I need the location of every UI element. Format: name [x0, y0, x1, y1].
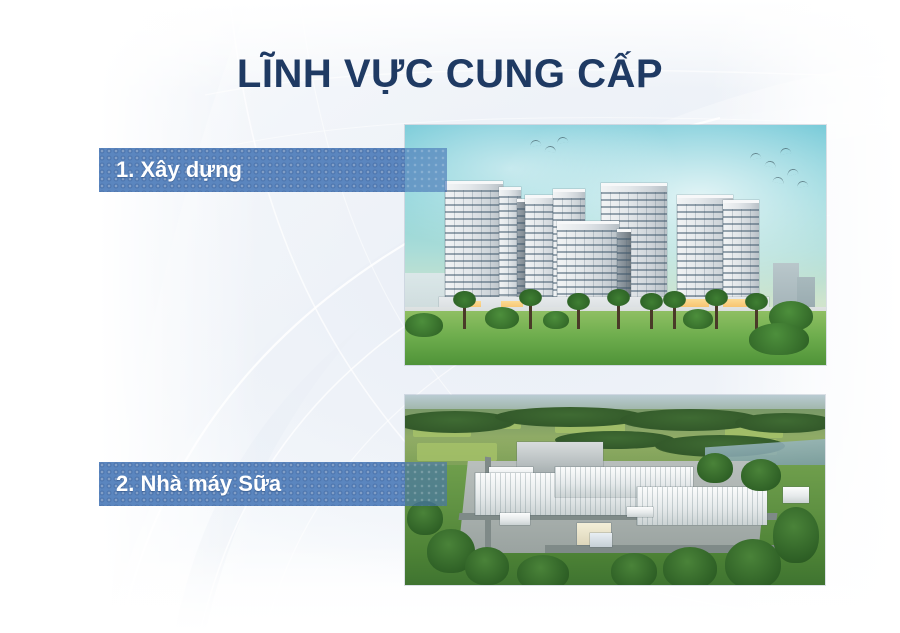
- slide-title: LĨNH VỰC CUNG CẤP: [0, 52, 900, 97]
- tree: [725, 539, 781, 585]
- palm-tree: [755, 305, 758, 329]
- tree: [517, 555, 569, 585]
- band-overlay-extension: [405, 148, 447, 192]
- tree: [697, 453, 733, 483]
- palm-tree: [617, 301, 620, 329]
- loading-canopy: [500, 513, 530, 525]
- palm-tree: [463, 303, 466, 329]
- tree: [663, 547, 717, 585]
- warehouse-building: [637, 487, 767, 525]
- shrub: [405, 313, 443, 337]
- tree: [611, 553, 657, 585]
- loading-canopy: [627, 507, 653, 517]
- milk-factory-photo: [405, 395, 825, 585]
- list-item-2-label: 2. Nhà máy Sữa: [99, 471, 281, 497]
- tree: [773, 507, 819, 563]
- band-overlay-extension: [405, 462, 447, 506]
- palm-tree: [715, 301, 718, 329]
- shrub: [749, 323, 809, 355]
- construction-project-photo: [405, 125, 826, 365]
- shrub: [683, 309, 713, 329]
- list-item-1-label: 1. Xây dựng: [99, 157, 242, 183]
- outbuilding: [783, 487, 809, 503]
- palm-tree: [577, 305, 580, 329]
- gate-house-annex: [590, 533, 612, 547]
- tree: [407, 501, 443, 535]
- palm-tree: [673, 303, 676, 329]
- list-item-1[interactable]: 1. Xây dựng: [99, 148, 447, 192]
- tree: [465, 547, 509, 585]
- palm-tree: [529, 301, 532, 329]
- slide-canvas: LĨNH VỰC CUNG CẤP: [0, 0, 900, 633]
- shrub: [485, 307, 519, 329]
- shrub: [543, 311, 569, 329]
- palm-tree: [650, 305, 653, 329]
- list-item-2[interactable]: 2. Nhà máy Sữa: [99, 462, 447, 506]
- tree: [741, 459, 781, 491]
- tree-belt: [735, 413, 825, 433]
